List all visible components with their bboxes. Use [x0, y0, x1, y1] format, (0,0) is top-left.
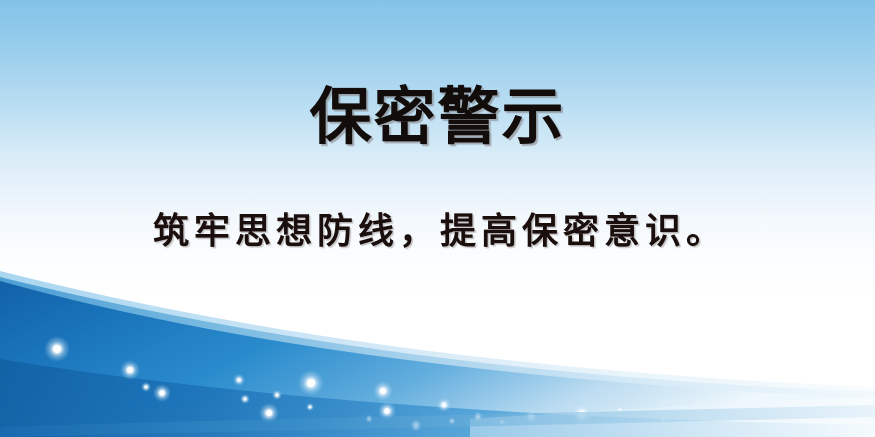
- page-title: 保密警示: [0, 82, 875, 152]
- poster-subtitle: 筑牢思想防线，提高保密意识。: [0, 208, 875, 256]
- confidentiality-warning-poster: 保密警示 筑牢思想防线，提高保密意识。: [0, 0, 875, 437]
- poster-text-layer: 保密警示 筑牢思想防线，提高保密意识。: [0, 0, 875, 437]
